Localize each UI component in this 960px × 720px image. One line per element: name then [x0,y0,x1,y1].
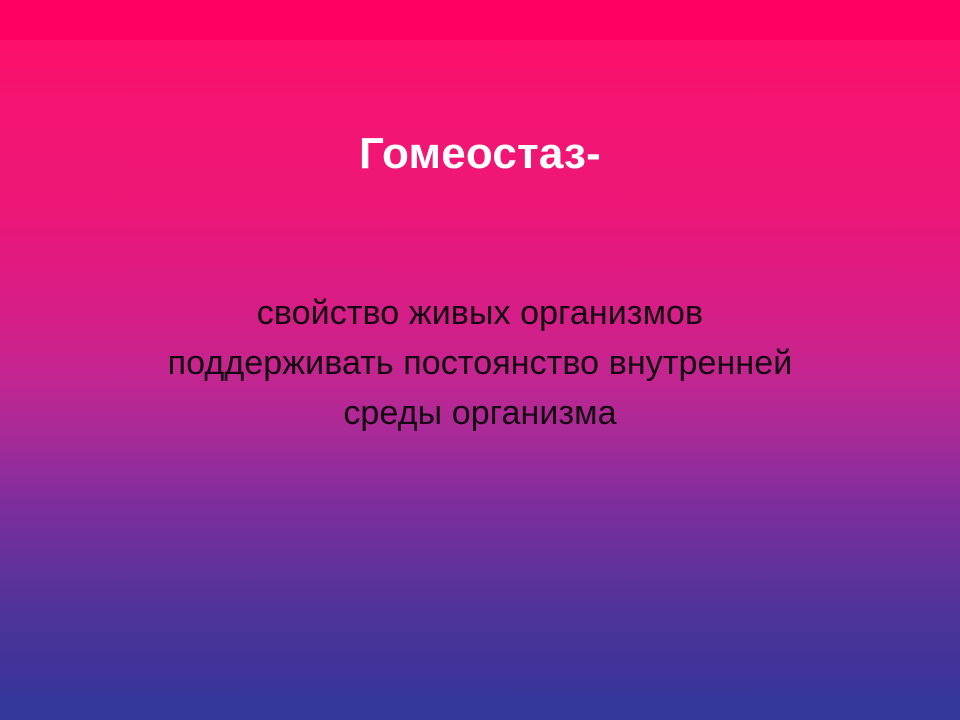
body-line: свойство живых организмов [40,288,920,338]
slide-body-text: свойство живых организмов поддерживать п… [40,288,920,438]
body-line: среды организма [40,388,920,438]
slide-content: Гомеостаз- свойство живых организмов под… [0,0,960,720]
body-line: поддерживать постоянство внутренней [40,338,920,388]
presentation-slide: Гомеостаз- свойство живых организмов под… [0,0,960,720]
slide-title: Гомеостаз- [0,128,960,180]
